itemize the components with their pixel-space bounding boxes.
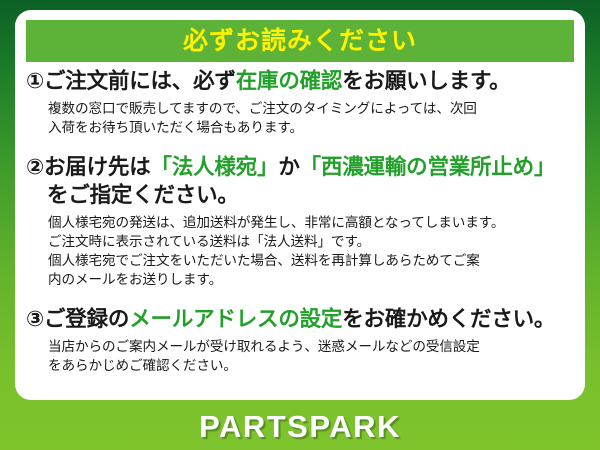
item-2-body: 個人様宅宛の発送は、追加送料が発生し、非常に高額となってしまいます。 ご注文時に…	[26, 213, 578, 289]
brand-footer: PARTSPARK	[0, 402, 600, 450]
notice-card: 必ずお読みください ①ご注文前には、必ず在庫の確認をお願いします。 複数の窓口で…	[15, 10, 585, 400]
item-1-body-line-1: 複数の窓口で販売してますので、ご注文のタイミングによっては、次回	[48, 99, 578, 118]
brand-name: PARTSPARK	[199, 411, 401, 442]
item-1-body: 複数の窓口で販売してますので、ご注文のタイミングによっては、次回 入荷をお待ち頂…	[26, 99, 578, 137]
item-3-heading: ③ご登録のメールアドレスの設定をお確かめください。	[26, 306, 578, 334]
notice-item-1: ①ご注文前には、必ず在庫の確認をお願いします。 複数の窓口で販売してますので、ご…	[26, 68, 578, 137]
item-2-body-line-3: 個人様宅宛でご注文をいただいた場合、送料を再計算しあらためてご案	[48, 251, 578, 270]
item-2-heading-highlight-1: 「法人様宛」	[151, 155, 279, 179]
notice-content: ①ご注文前には、必ず在庫の確認をお願いします。 複数の窓口で販売してますので、ご…	[26, 68, 578, 379]
banner-title: 必ずお読みください	[183, 29, 417, 54]
item-1-heading-highlight: 在庫の確認	[236, 69, 343, 93]
item-3-body: 当店からのご案内メールが受け取れるよう、迷惑メールなどの受信設定 をあらかじめご…	[26, 337, 578, 375]
item-2-body-line-4: 内のメールをお送りします。	[48, 270, 578, 289]
item-3-heading-seg-3: をお確かめください。	[342, 307, 555, 331]
item-1-body-line-2: 入荷をお待ち頂いただく場合もあります。	[48, 118, 578, 137]
notice-poster: 必ずお読みください ①ご注文前には、必ず在庫の確認をお願いします。 複数の窓口で…	[0, 0, 600, 450]
notice-item-3: ③ご登録のメールアドレスの設定をお確かめください。 当店からのご案内メールが受け…	[26, 306, 578, 375]
item-3-heading-highlight: メールアドレスの設定	[129, 307, 342, 331]
item-3-heading-seg-1: ③ご登録の	[26, 307, 129, 331]
notice-item-2: ②お届け先は「法人様宛」か「西濃運輸の営業所止め」 をご指定ください。 個人様宅…	[26, 154, 578, 289]
notice-banner: 必ずお読みください	[26, 20, 574, 62]
item-1-heading: ①ご注文前には、必ず在庫の確認をお願いします。	[26, 68, 578, 96]
item-1-heading-seg-1: ①ご注文前には、必ず	[26, 69, 236, 93]
item-1-heading-seg-3: をお願いします。	[342, 69, 510, 93]
item-2-heading: ②お届け先は「法人様宛」か「西濃運輸の営業所止め」	[26, 154, 578, 182]
item-2-heading-highlight-2: 「西濃運輸の営業所止め」	[300, 155, 556, 179]
item-2-heading-seg-3: か	[278, 155, 299, 179]
item-3-body-line-1: 当店からのご案内メールが受け取れるよう、迷惑メールなどの受信設定	[48, 337, 578, 356]
item-2-heading-seg-1: ②お届け先は	[26, 155, 151, 179]
item-2-heading-line-2: をご指定ください。	[26, 182, 578, 210]
item-2-body-line-1: 個人様宅宛の発送は、追加送料が発生し、非常に高額となってしまいます。	[48, 213, 578, 232]
item-2-body-line-2: ご注文時に表示されている送料は「法人送料」です。	[48, 232, 578, 251]
item-3-body-line-2: をあらかじめご確認ください。	[48, 356, 578, 375]
